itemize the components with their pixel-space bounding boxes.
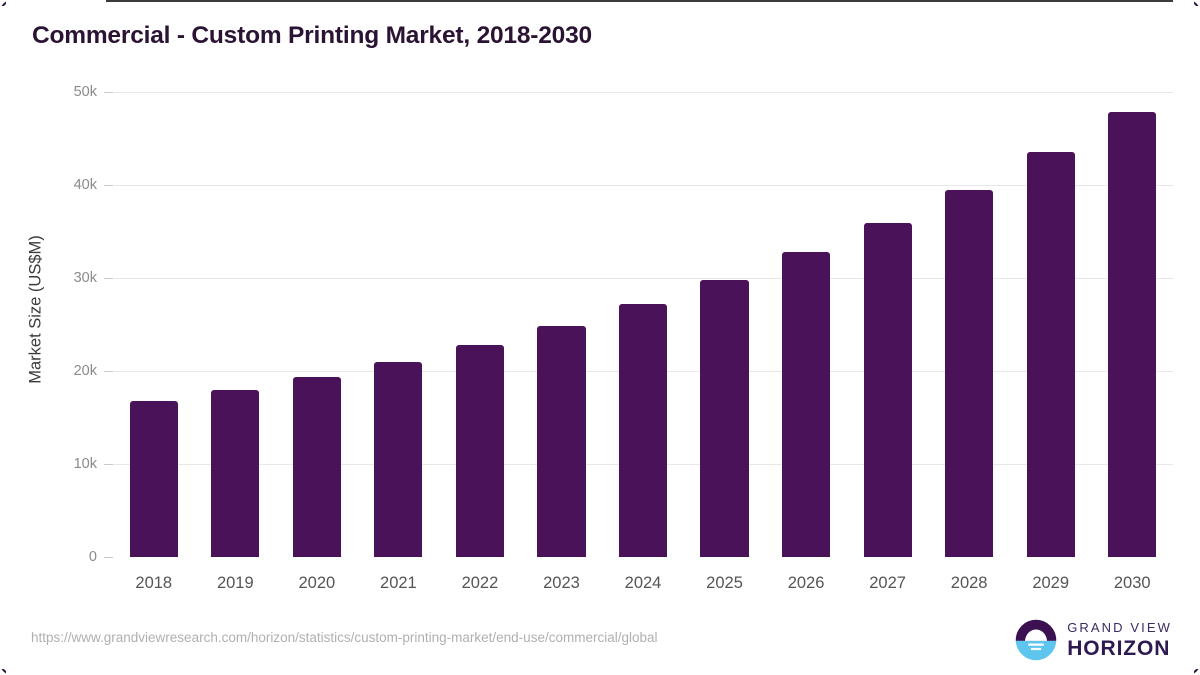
y-tick-mark bbox=[104, 92, 113, 93]
x-tick-label: 2021 bbox=[380, 574, 417, 593]
bar[interactable] bbox=[537, 326, 585, 557]
y-tick-mark bbox=[104, 557, 113, 558]
x-tick-label: 2025 bbox=[706, 574, 743, 593]
gridline bbox=[113, 185, 1173, 186]
bar[interactable] bbox=[619, 304, 667, 557]
y-tick-label: 50k bbox=[37, 84, 97, 100]
x-tick-label: 2023 bbox=[543, 574, 580, 593]
x-axis-line bbox=[106, 0, 1173, 2]
y-tick-mark bbox=[104, 185, 113, 186]
x-tick-label: 2024 bbox=[625, 574, 662, 593]
bar[interactable] bbox=[1027, 152, 1075, 557]
y-tick-mark bbox=[104, 371, 113, 372]
gridline bbox=[113, 278, 1173, 279]
y-axis-title: Market Size (US$M) bbox=[27, 110, 46, 510]
x-tick-label: 2020 bbox=[298, 574, 335, 593]
x-tick-label: 2019 bbox=[217, 574, 254, 593]
bar[interactable] bbox=[293, 377, 341, 557]
logo-line-1: GRAND VIEW bbox=[1067, 621, 1172, 634]
logo-wordmark: GRAND VIEW HORIZON bbox=[1067, 621, 1172, 659]
bar[interactable] bbox=[456, 345, 504, 557]
bar[interactable] bbox=[700, 280, 748, 557]
x-tick-label: 2026 bbox=[788, 574, 825, 593]
chart-card: Commercial - Custom Printing Market, 201… bbox=[0, 0, 1200, 675]
y-tick-label: 20k bbox=[37, 363, 97, 379]
bar[interactable] bbox=[130, 401, 178, 557]
x-tick-label: 2028 bbox=[951, 574, 988, 593]
source-url[interactable]: https://www.grandviewresearch.com/horizo… bbox=[31, 630, 658, 645]
logo-line-2: HORIZON bbox=[1067, 638, 1172, 659]
y-tick-label: 40k bbox=[37, 177, 97, 193]
bar[interactable] bbox=[864, 223, 912, 557]
x-tick-label: 2027 bbox=[869, 574, 906, 593]
bar[interactable] bbox=[1108, 112, 1156, 557]
y-tick-mark bbox=[104, 464, 113, 465]
bar[interactable] bbox=[782, 252, 830, 557]
x-tick-label: 2018 bbox=[135, 574, 172, 593]
y-tick-label: 10k bbox=[37, 456, 97, 472]
grand-view-horizon-logo[interactable]: GRAND VIEW HORIZON bbox=[1014, 618, 1172, 662]
x-tick-label: 2030 bbox=[1114, 574, 1151, 593]
horizon-sun-circle-icon bbox=[1014, 618, 1058, 662]
y-tick-label: 0 bbox=[37, 549, 97, 565]
x-tick-label: 2022 bbox=[462, 574, 499, 593]
y-tick-label: 30k bbox=[37, 270, 97, 286]
x-tick-label: 2029 bbox=[1032, 574, 1069, 593]
gridline bbox=[113, 92, 1173, 93]
bar[interactable] bbox=[374, 362, 422, 557]
plot-area: Market Size (US$M) 010k20k30k40k50k 2018… bbox=[0, 0, 1200, 675]
bar[interactable] bbox=[211, 390, 259, 557]
y-tick-mark bbox=[104, 278, 113, 279]
bar[interactable] bbox=[945, 190, 993, 557]
